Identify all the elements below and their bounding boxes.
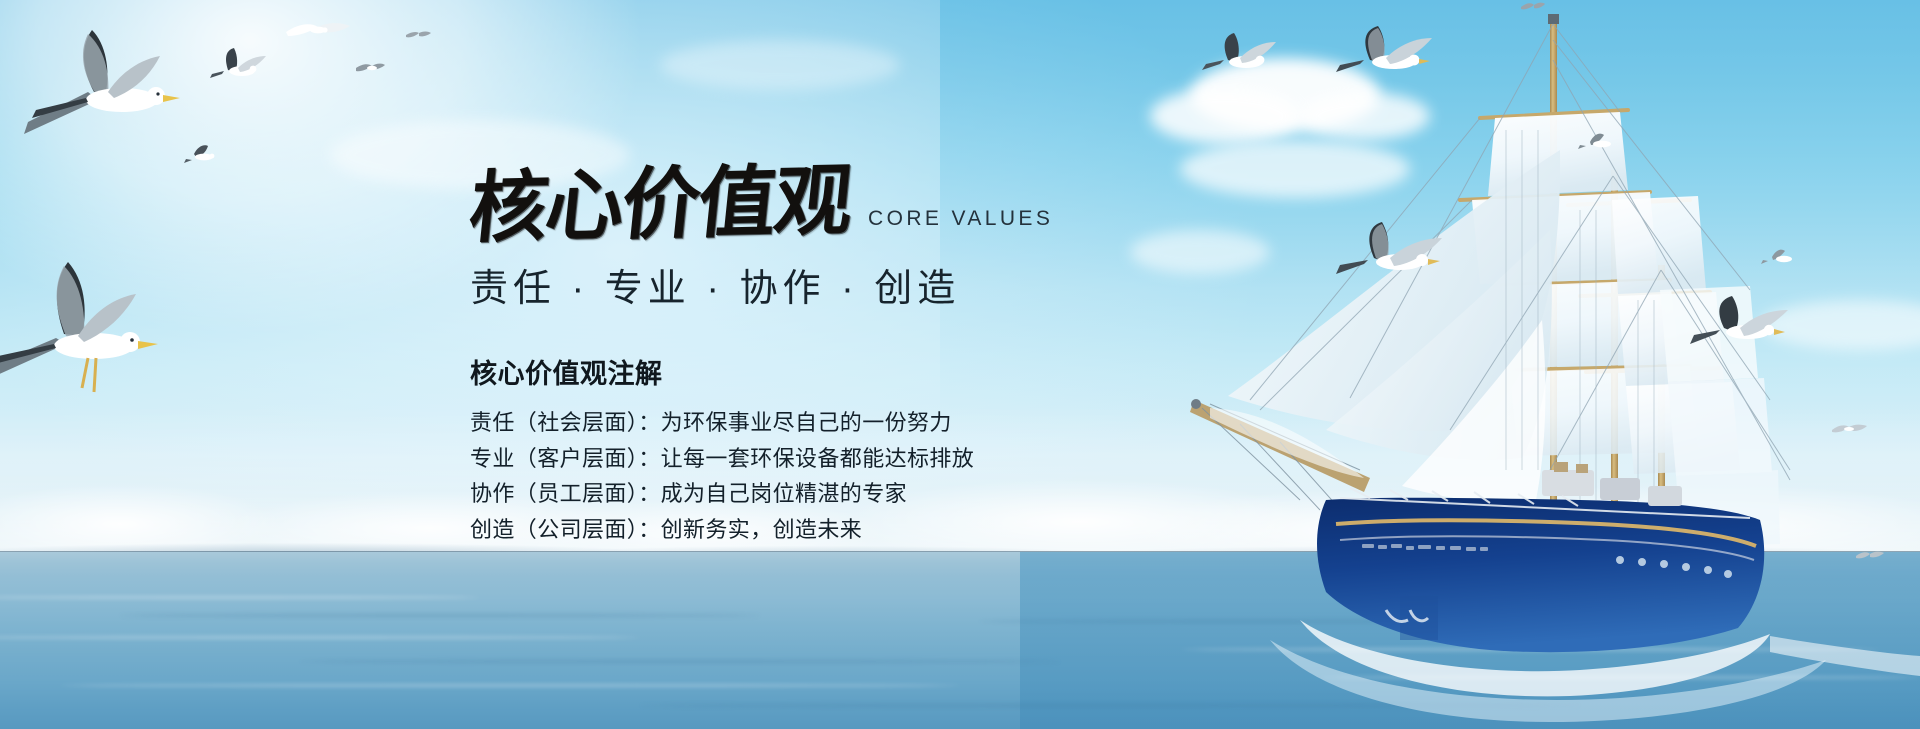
page-title: 核心价值观 <box>466 164 855 247</box>
seagull <box>1852 548 1886 566</box>
seagull <box>1760 246 1800 270</box>
note-line: 创造（公司层面）：创新务实，创造未来 <box>470 512 1190 548</box>
water-ripple <box>60 684 960 687</box>
note-line: 专业（客户层面）：让每一套环保设备都能达标排放 <box>470 441 1190 477</box>
tall-ship <box>1150 0 1920 729</box>
seagull <box>208 46 272 86</box>
headline-row: 核心价值观 CORE VALUES <box>470 168 1190 243</box>
values-tagline: 责任 · 专业 · 协作 · 创造 <box>470 257 1190 312</box>
seagull <box>0 248 200 408</box>
seagull <box>1684 292 1794 356</box>
seagull <box>1332 22 1442 88</box>
seagull <box>352 60 386 80</box>
seagull <box>1518 0 1546 16</box>
water-ripple <box>300 660 1060 663</box>
seagull <box>1330 218 1450 290</box>
seagull <box>1576 130 1622 156</box>
water-ripple <box>120 614 760 617</box>
notes-heading: 核心价值观注解 <box>470 352 1190 391</box>
notes-list: 责任（社会层面）：为环保事业尽自己的一份努力 专业（客户层面）：让每一套环保设备… <box>470 405 1190 548</box>
note-line: 责任（社会层面）：为环保事业尽自己的一份努力 <box>470 405 1190 441</box>
page-subtitle-en: CORE VALUES <box>868 207 1053 243</box>
seagull <box>1198 30 1284 82</box>
copy-block: 核心价值观 CORE VALUES 责任 · 专业 · 协作 · 创造 核心价值… <box>470 168 1190 547</box>
core-values-banner: 核心价值观 CORE VALUES 责任 · 专业 · 协作 · 创造 核心价值… <box>0 0 1920 729</box>
note-line: 协作（员工层面）：成为自己岗位精湛的专家 <box>470 476 1190 512</box>
seagull <box>1827 420 1869 442</box>
seagull <box>10 18 220 158</box>
seagull <box>280 18 356 52</box>
cloud-puff <box>660 40 900 90</box>
seagull <box>182 142 222 168</box>
seagull <box>403 28 433 46</box>
